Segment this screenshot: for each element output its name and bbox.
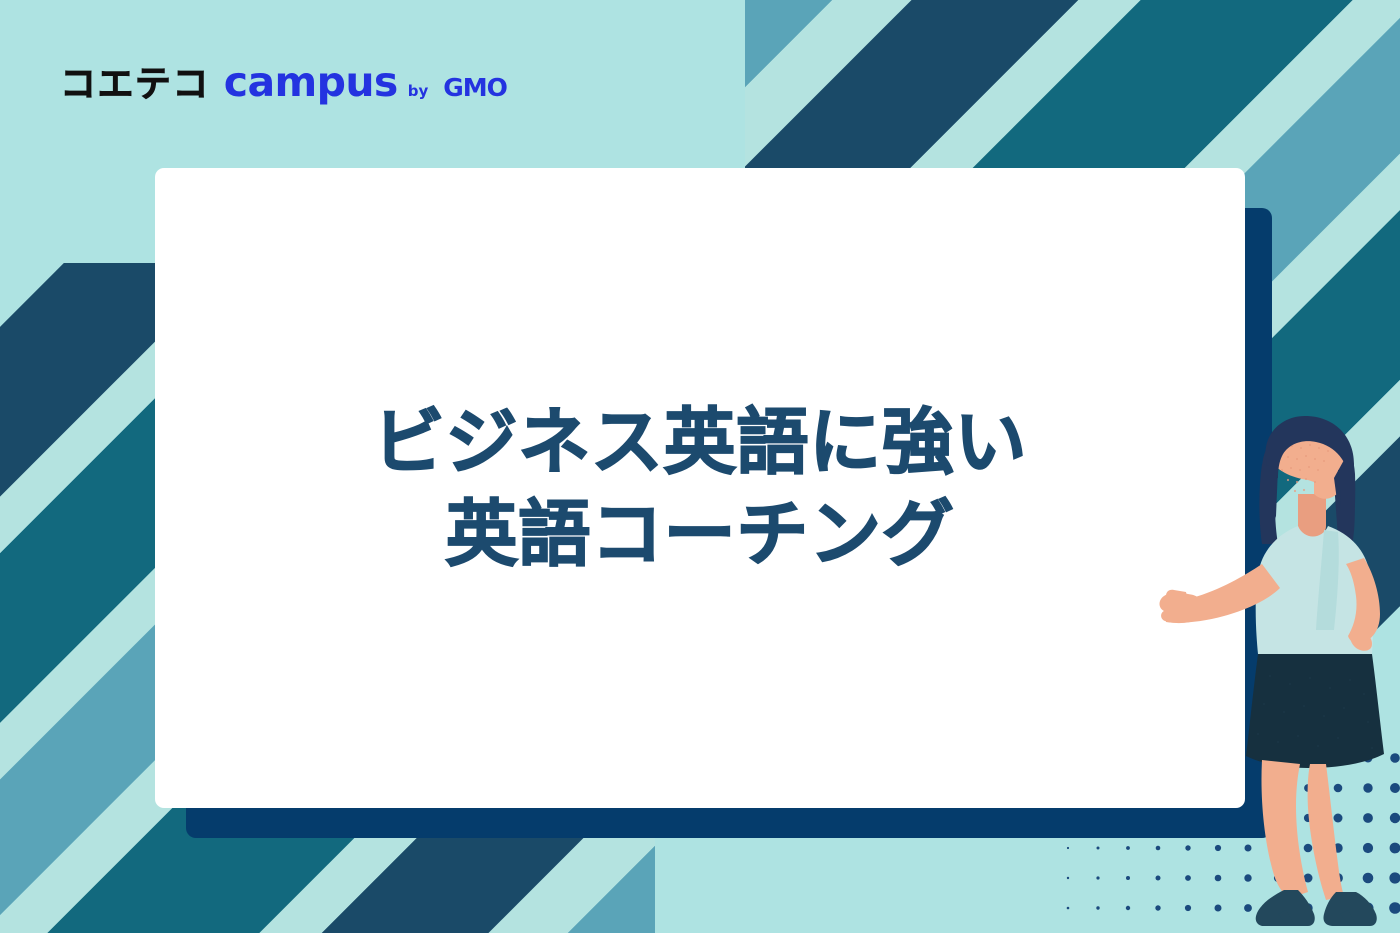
slide-canvas: ビジネス英語に強い 英語コーチング コエテコ campus by GMO [0, 0, 1400, 933]
page-title: ビジネス英語に強い 英語コーチング [333, 396, 1067, 580]
brand-logo[interactable]: コエテコ campus by GMO [60, 62, 507, 114]
logo-koeteco-text: コエテコ [60, 67, 210, 103]
headline-line-1: ビジネス英語に強い [373, 396, 1027, 488]
logo-by-text: by [408, 84, 429, 99]
headline-line-2: 英語コーチング [373, 488, 1027, 580]
main-card: ビジネス英語に強い 英語コーチング [155, 168, 1245, 808]
logo-gmo-text: GMO [443, 75, 507, 100]
logo-campus-text: campus [224, 62, 398, 103]
